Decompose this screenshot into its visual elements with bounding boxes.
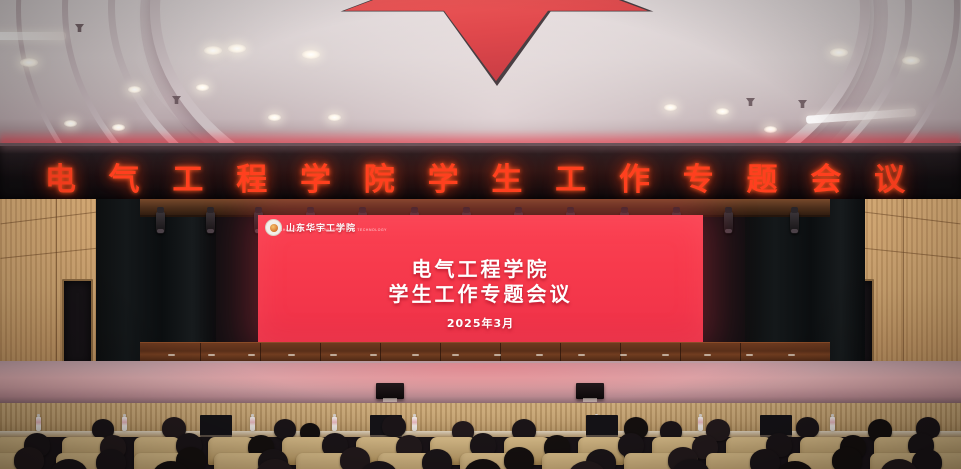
audience-head	[750, 449, 780, 469]
stage-floor-glow	[150, 363, 810, 397]
projection-screen: 山东华宇工学院 SHANDONG HUAYU UNIVERSITY OF TEC…	[258, 215, 703, 342]
ceiling-downlight	[268, 114, 281, 121]
water-bottle	[830, 417, 835, 431]
water-bottle	[412, 417, 417, 431]
wall-recess-panel	[62, 279, 93, 367]
stage-light	[206, 212, 215, 234]
ceiling-downlight	[228, 44, 246, 53]
audience-head	[96, 449, 126, 469]
floor-monitor	[376, 383, 404, 399]
water-bottle	[698, 417, 703, 431]
ceiling-downlight	[830, 48, 848, 57]
desk-monitor	[586, 415, 618, 437]
ceiling-downlight	[196, 84, 209, 91]
ceiling-downlight	[664, 104, 677, 111]
ceiling-downlight	[902, 56, 920, 65]
audience-head	[504, 447, 534, 469]
stage-light	[156, 212, 165, 234]
stage-light	[724, 212, 733, 234]
water-bottle	[332, 417, 337, 431]
audience-head	[832, 447, 862, 469]
audience-head	[382, 415, 406, 437]
stage-apron	[140, 342, 830, 362]
ceiling-downlight	[20, 58, 38, 67]
water-bottle	[250, 417, 255, 431]
audience-head	[796, 417, 819, 438]
ceiling-downlight	[204, 46, 222, 55]
audience-head	[14, 447, 44, 469]
led-banner-text: 电 气 工 程 学 院 学 生 工 作 专 题 会 议	[0, 154, 961, 199]
water-bottle	[36, 417, 41, 431]
ceiling	[0, 0, 961, 152]
ceiling-downlight	[302, 50, 320, 59]
desk-monitor	[200, 415, 232, 437]
audience-head	[274, 419, 296, 439]
audience-head	[912, 449, 942, 469]
ceiling-downlight	[328, 114, 341, 121]
ceiling-downlight	[716, 108, 729, 115]
audience-area	[0, 403, 961, 469]
stage-light	[790, 212, 799, 234]
water-bottle	[122, 417, 127, 431]
ceiling-downlight	[64, 120, 77, 127]
screen-date: 2025年3月	[258, 315, 703, 331]
ceiling-downlight	[128, 86, 141, 93]
ceiling-linear-light	[0, 32, 66, 40]
hall: 山东华宇工学院 SHANDONG HUAYU UNIVERSITY OF TEC…	[0, 199, 961, 469]
screen-title-line2: 学生工作专题会议	[258, 278, 703, 307]
led-banner: 电 气 工 程 学 院 学 生 工 作 专 题 会 议	[0, 143, 961, 202]
logo-name-en: SHANDONG HUAYU UNIVERSITY OF TECHNOLOGY	[280, 228, 387, 232]
floor-monitor	[576, 383, 604, 399]
audience-head	[422, 449, 452, 469]
auditorium-photo: 电 气 工 程 学 院 学 生 工 作 专 题 会 议	[0, 0, 961, 469]
